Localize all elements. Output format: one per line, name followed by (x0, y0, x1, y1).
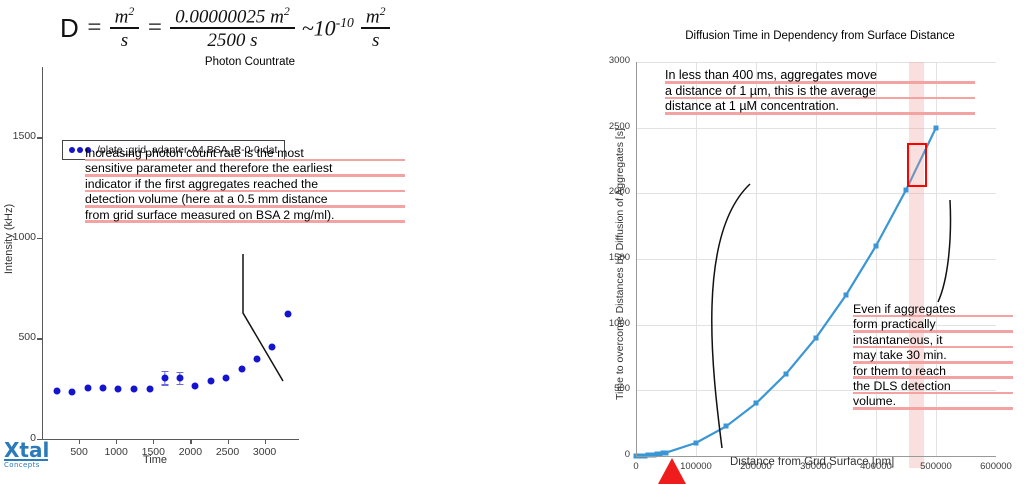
formula-symbol-D: D (60, 13, 79, 44)
left-y-ticklabel: 1500 (8, 130, 36, 142)
formula-equals-2: = (146, 14, 163, 42)
data-point (177, 375, 184, 382)
left-x-tick (153, 439, 154, 444)
right-gridline-v (696, 62, 697, 456)
annotation-line: instantaneous, it (853, 333, 1013, 348)
formula-fraction-3: m2 s (361, 6, 391, 50)
data-point (238, 365, 245, 372)
formula-frac1-denominator: s (116, 29, 133, 50)
data-point (284, 311, 291, 318)
logo-wordmark: Xtal (4, 440, 66, 460)
right-x-ticklabel: 400000 (844, 461, 908, 472)
formula-frac3-numerator: m2 (361, 6, 391, 27)
right-y-ticklabel: 2000 (596, 186, 630, 197)
right-y-axis-label: Time to overcome Distances by Diffusion … (614, 99, 626, 429)
annotation-line: Even if aggregates (853, 302, 1013, 317)
right-x-ticklabel: 0 (604, 461, 668, 472)
data-point (664, 450, 669, 455)
left-x-ticklabel: 2500 (210, 446, 246, 458)
red-highlight-rectangle (907, 143, 927, 187)
error-bar-cap (161, 384, 168, 385)
error-bar-cap (177, 372, 184, 373)
formula-frac3-denominator: s (367, 29, 384, 50)
data-point (53, 388, 60, 395)
annotation-line: detection volume (here at a 0.5 mm dista… (85, 192, 405, 207)
data-point (269, 343, 276, 350)
right-x-ticklabel: 600000 (964, 461, 1024, 472)
annotation-line: a distance of 1 µm, this is the average (665, 84, 975, 100)
left-x-ticklabel: 1000 (98, 446, 134, 458)
right-y-ticklabel: 0 (596, 449, 630, 460)
right-x-ticklabel: 200000 (724, 461, 788, 472)
xtal-concepts-logo: Xtal Concepts (4, 440, 66, 474)
formula-frac2-numerator: 0.00000025 m2 (170, 6, 295, 27)
annotation-line: the DLS detection (853, 379, 1013, 394)
left-x-tick (79, 439, 80, 444)
data-point (934, 125, 939, 130)
annotation-line: In less than 400 ms, aggregates move (665, 68, 975, 84)
right-x-ticklabel: 300000 (784, 461, 848, 472)
annotation-line: from grid surface measured on BSA 2 mg/m… (85, 208, 405, 223)
data-point (874, 243, 879, 248)
left-x-tick (116, 439, 117, 444)
right-y-ticklabel: 3000 (596, 55, 630, 66)
right-gridline-v (816, 62, 817, 456)
right-gridline-v (756, 62, 757, 456)
right-x-ticklabel: 500000 (904, 461, 968, 472)
data-point (754, 401, 759, 406)
right-y-ticklabel: 500 (596, 383, 630, 394)
annotation-line: Increasing photon count rate is the most (85, 146, 405, 161)
left-plot-area (42, 67, 298, 439)
data-point (85, 384, 92, 391)
right-x-ticklabel: 100000 (664, 461, 728, 472)
right-y-ticklabel: 1000 (596, 318, 630, 329)
left-y-tick (37, 338, 42, 339)
formula-fraction-1: m2 s (110, 6, 140, 50)
logo-subtitle: Concepts (4, 461, 66, 469)
annotation-line: sensitive parameter and therefore the ea… (85, 161, 405, 176)
error-bar-cap (161, 371, 168, 372)
left-y-tick (37, 137, 42, 138)
formula-fraction-2: 0.00000025 m2 2500 s (170, 6, 295, 50)
data-point (207, 378, 214, 385)
data-point (161, 374, 168, 381)
data-point (100, 385, 107, 392)
data-point (724, 424, 729, 429)
data-point (131, 385, 138, 392)
formula-frac2-denominator: 2500 s (202, 29, 262, 50)
diffusion-time-chart: Diffusion Time in Dependency from Surfac… (560, 30, 1024, 479)
annotation-line: form practically (853, 317, 1013, 332)
right-chart-title: Diffusion Time in Dependency from Surfac… (620, 30, 1020, 42)
formula-approximation: ~10-10 (302, 15, 354, 41)
annotation-line: distance at 1 µM concentration. (665, 99, 975, 115)
data-point (223, 375, 230, 382)
right-y-ticklabel: 1500 (596, 252, 630, 263)
left-y-tick (37, 238, 42, 239)
diffusion-coefficient-formula: D = m2 s = 0.00000025 m2 2500 s ~10-10 m… (60, 2, 490, 54)
left-y-ticklabel: 500 (8, 331, 36, 343)
right-chart-annotation-bottom: Even if aggregates form practically inst… (853, 302, 1013, 410)
annotation-line: volume. (853, 394, 1013, 409)
left-y-ticklabel: 1000 (8, 231, 36, 243)
right-chart-annotation-top: In less than 400 ms, aggregates move a d… (665, 68, 975, 115)
left-x-ticklabel: 500 (61, 446, 97, 458)
data-point (844, 293, 849, 298)
right-x-axis (636, 456, 996, 457)
left-x-ticklabel: 3000 (247, 446, 283, 458)
data-point (814, 335, 819, 340)
right-y-ticklabel: 2500 (596, 121, 630, 132)
data-point (146, 386, 153, 393)
left-chart-annotation: Increasing photon count rate is the most… (85, 146, 405, 223)
left-x-ticklabel: 2000 (172, 446, 208, 458)
data-point (69, 388, 76, 395)
left-x-tick (190, 439, 191, 444)
data-point (115, 386, 122, 393)
data-point (192, 383, 199, 390)
data-point (904, 188, 909, 193)
formula-frac1-numerator: m2 (110, 6, 140, 27)
photon-countrate-chart: Photon Countrate Intensity (kHz) Time /p… (0, 58, 512, 468)
annotation-line: for them to reach (853, 364, 1013, 379)
slide-canvas: D = m2 s = 0.00000025 m2 2500 s ~10-10 m… (0, 0, 1024, 479)
data-point (253, 355, 260, 362)
data-point (784, 371, 789, 376)
right-y-axis (636, 62, 637, 456)
left-x-tick (228, 439, 229, 444)
formula-equals-1: = (86, 14, 103, 42)
annotation-line: indicator if the first aggregates reache… (85, 177, 405, 192)
annotation-line: may take 30 min. (853, 348, 1013, 363)
error-bar-cap (177, 384, 184, 385)
data-point (694, 440, 699, 445)
left-x-tick (265, 439, 266, 444)
left-x-ticklabel: 1500 (135, 446, 171, 458)
